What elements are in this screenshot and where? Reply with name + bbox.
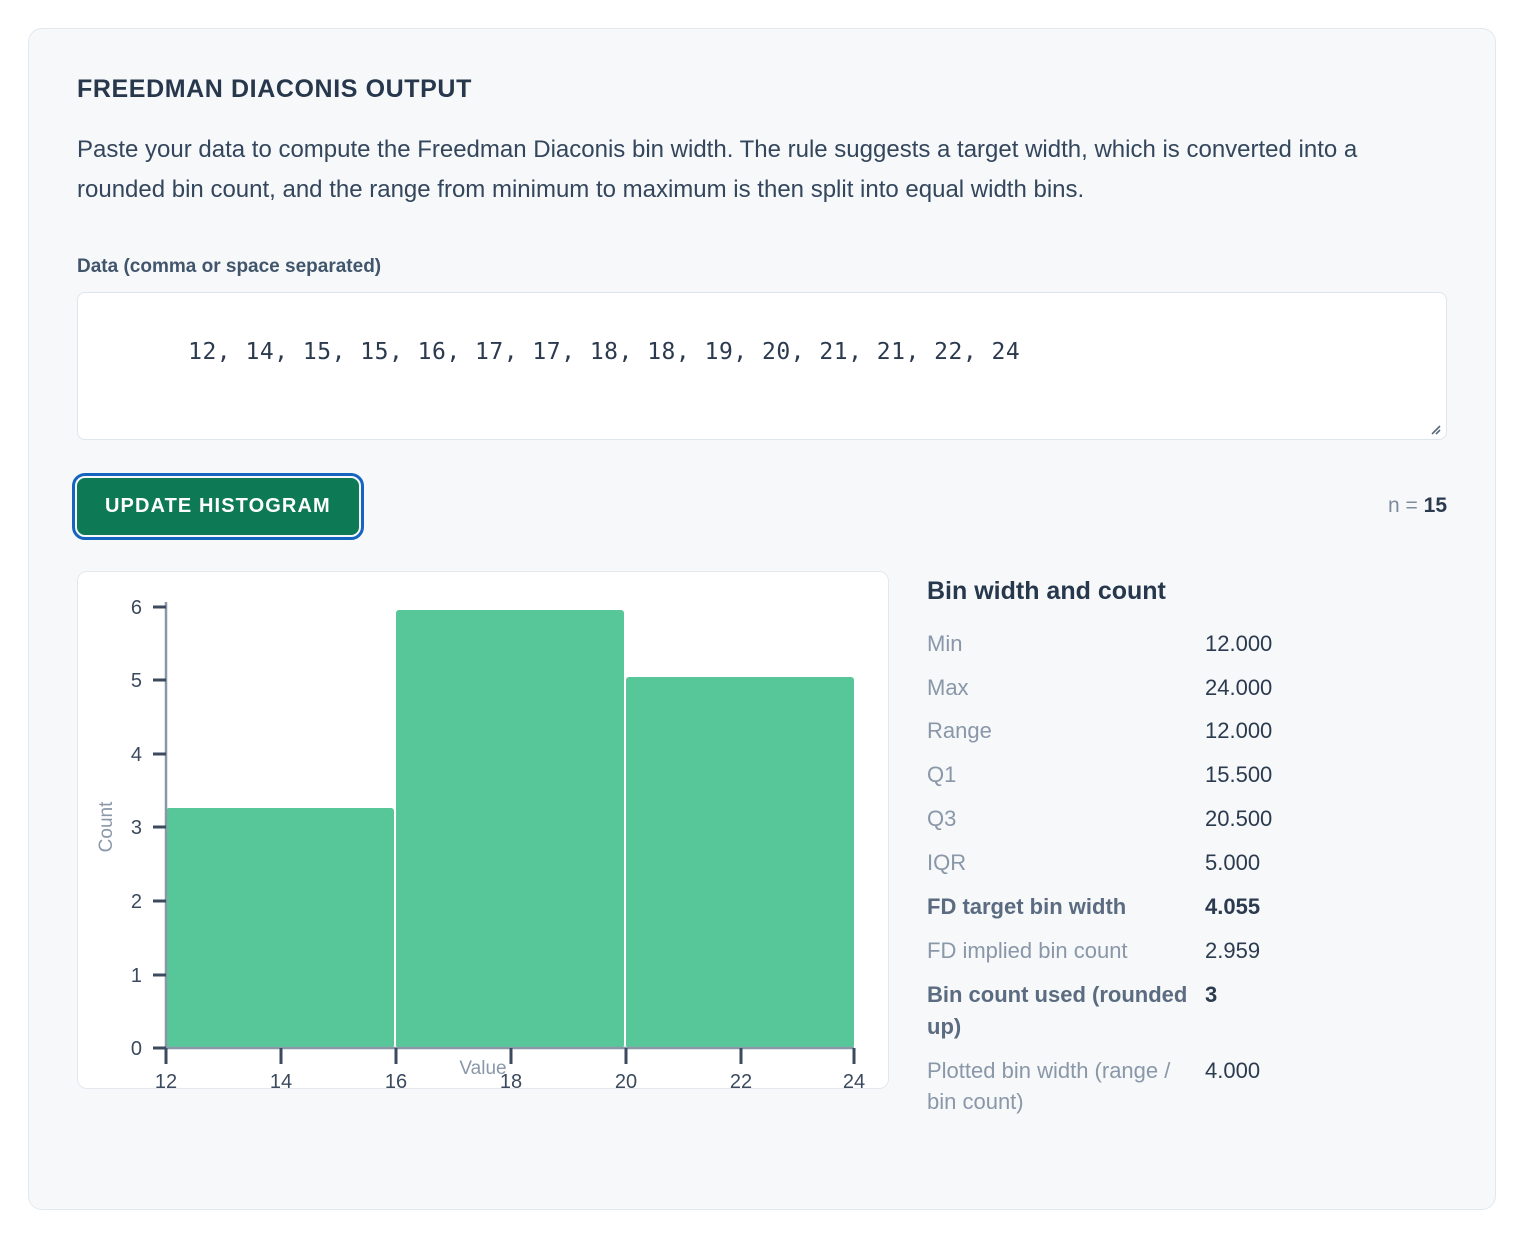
stat-label: FD target bin width: [927, 891, 1205, 923]
stat-row: FD target bin width 4.055: [927, 891, 1447, 923]
stats-title: Bin width and count: [927, 577, 1447, 606]
stat-value: 2.959: [1205, 935, 1260, 967]
results-area: 0 1 2 3 4 5 6 Count: [77, 571, 1447, 1131]
stat-row: Max 24.000: [927, 672, 1447, 704]
data-input-label: Data (comma or space separated): [77, 256, 1447, 278]
stat-value: 3: [1205, 979, 1217, 1011]
histogram-bar: [396, 610, 624, 1048]
y-tick-label: 2: [131, 891, 142, 913]
card-description: Paste your data to compute the Freedman …: [77, 130, 1427, 210]
stat-label: IQR: [927, 847, 1205, 879]
action-row: UPDATE HISTOGRAM n = 15: [77, 478, 1447, 535]
stats-panel: Bin width and count Min 12.000 Max 24.00…: [927, 571, 1447, 1131]
stat-row: Q1 15.500: [927, 759, 1447, 791]
stat-value: 4.000: [1205, 1055, 1260, 1087]
y-tick-label: 4: [131, 744, 142, 766]
y-tick-label: 6: [131, 597, 142, 619]
histogram-bar: [626, 677, 854, 1048]
page-title: FREEDMAN DIACONIS OUTPUT: [77, 75, 1447, 104]
stat-row: Q3 20.500: [927, 803, 1447, 835]
freedman-diaconis-card: FREEDMAN DIACONIS OUTPUT Paste your data…: [28, 28, 1496, 1210]
y-tick-label: 3: [131, 817, 142, 839]
y-axis-label: Count: [96, 801, 117, 852]
data-input[interactable]: 12, 14, 15, 15, 16, 17, 17, 18, 18, 19, …: [77, 292, 1447, 440]
stat-row: Min 12.000: [927, 628, 1447, 660]
stat-label: Plotted bin width (range / bin count): [927, 1055, 1205, 1119]
stat-label: Min: [927, 628, 1205, 660]
stat-label: Bin count used (rounded up): [927, 979, 1205, 1043]
stat-row: Plotted bin width (range / bin count) 4.…: [927, 1055, 1447, 1119]
stat-row: FD implied bin count 2.959: [927, 935, 1447, 967]
page-root: FREEDMAN DIACONIS OUTPUT Paste your data…: [0, 0, 1524, 1244]
sample-size-value: 15: [1424, 494, 1447, 517]
y-tick-label: 1: [131, 965, 142, 987]
y-axis: 0 1 2 3 4 5 6 Count: [96, 597, 166, 1060]
stat-value: 5.000: [1205, 847, 1260, 879]
stat-label: Q3: [927, 803, 1205, 835]
stat-label: FD implied bin count: [927, 935, 1205, 967]
histogram-chart: 0 1 2 3 4 5 6 Count: [78, 572, 888, 1088]
stat-label: Q1: [927, 759, 1205, 791]
stat-row: Range 12.000: [927, 715, 1447, 747]
stat-row: Bin count used (rounded up) 3: [927, 979, 1447, 1043]
y-tick-label: 0: [131, 1038, 142, 1060]
stat-value: 4.055: [1205, 891, 1260, 923]
data-input-value: 12, 14, 15, 15, 16, 17, 17, 18, 18, 19, …: [188, 339, 1020, 365]
stat-value: 12.000: [1205, 715, 1272, 747]
stat-value: 20.500: [1205, 803, 1272, 835]
bars-group: [166, 610, 854, 1048]
stat-row: IQR 5.000: [927, 847, 1447, 879]
x-axis-label: Value: [78, 1058, 888, 1080]
histogram-bar: [166, 808, 394, 1048]
stat-value: 15.500: [1205, 759, 1272, 791]
sample-size-readout: n = 15: [1388, 494, 1447, 518]
histogram-panel: 0 1 2 3 4 5 6 Count: [77, 571, 889, 1089]
update-histogram-button[interactable]: UPDATE HISTOGRAM: [77, 478, 359, 535]
stat-value: 24.000: [1205, 672, 1272, 704]
sample-size-prefix: n =: [1388, 494, 1424, 517]
stat-label: Max: [927, 672, 1205, 704]
stat-value: 12.000: [1205, 628, 1272, 660]
stat-label: Range: [927, 715, 1205, 747]
resize-grip-icon[interactable]: [1425, 419, 1441, 435]
y-tick-label: 5: [131, 670, 142, 692]
